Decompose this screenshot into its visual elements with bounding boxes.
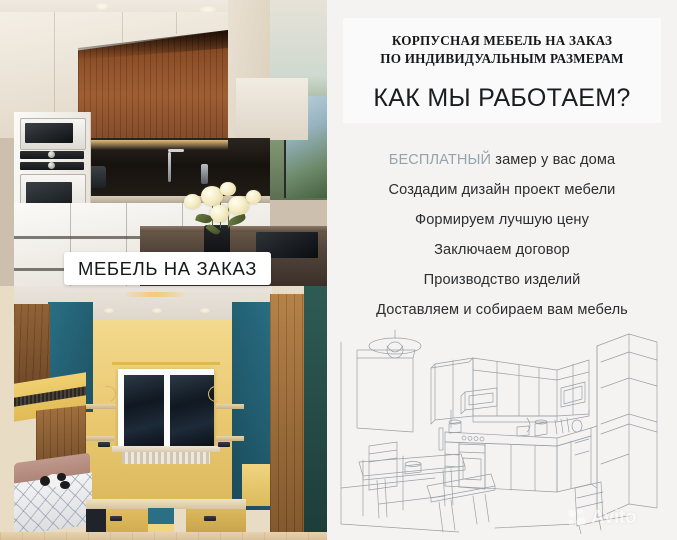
panda-paw xyxy=(60,481,70,489)
list-item: Создадим дизайн проект мебели xyxy=(327,175,677,205)
chrysanthemum-bloom xyxy=(210,205,229,222)
made-to-order-badge: МЕБЕЛЬ НА ЗАКАЗ xyxy=(64,252,271,285)
step-text: Формируем лучшую цену xyxy=(415,212,589,228)
avito-dots-icon xyxy=(566,507,588,529)
oven-knob-icon xyxy=(48,162,55,169)
kitchen-photo xyxy=(0,0,327,286)
list-item: Заключаем договор xyxy=(327,235,677,265)
free-highlight: БЕСПЛАТНЫЙ xyxy=(389,152,491,168)
radiator xyxy=(122,452,210,464)
textured-wall xyxy=(304,286,327,540)
wall-shelf xyxy=(216,436,244,441)
info-panel: КОРПУСНАЯ МЕБЕЛЬ НА ЗАКАЗ ПО ИНДИВИДУАЛЬ… xyxy=(327,0,677,540)
led-strip-light xyxy=(78,140,228,150)
subtitle-line-2: ПО ИНДИВИДУАЛЬНЫМ РАЗМЕРАМ xyxy=(327,50,677,68)
page-title: КАК МЫ РАБОТАЕМ? xyxy=(327,84,677,113)
badge-label: МЕБЕЛЬ НА ЗАКАЗ xyxy=(78,258,257,280)
power-socket-icon xyxy=(218,442,230,447)
curtain-rod xyxy=(112,362,220,365)
step-text: Создадим дизайн проект мебели xyxy=(389,182,616,198)
avito-watermark: Avito xyxy=(566,505,666,531)
step-text: замер у вас дома xyxy=(491,152,615,168)
panda-ear xyxy=(57,473,66,481)
step-text: Производство изделий xyxy=(424,272,581,288)
cabinet-seam xyxy=(176,12,177,34)
window-glass-left xyxy=(124,375,168,446)
window-mullion xyxy=(164,369,168,446)
range-hood xyxy=(236,78,308,140)
wall-shelf xyxy=(216,404,244,409)
ceiling-spotlight-icon xyxy=(104,308,114,313)
step-text: Заключаем договор xyxy=(434,242,570,258)
list-item: БЕСПЛАТНЫЙ замер у вас дома xyxy=(327,145,677,175)
ceiling-spotlight-icon xyxy=(96,3,108,10)
wall-shelf xyxy=(86,436,114,441)
drawer-unit-blue-top xyxy=(148,508,174,524)
power-socket-icon xyxy=(98,442,110,447)
photo-column: МЕБЕЛЬ НА ЗАКАЗ xyxy=(0,0,327,540)
chrysanthemum-bloom xyxy=(184,194,201,209)
kitchen-sketch-illustration xyxy=(339,328,665,534)
chrysanthemum-bloom xyxy=(246,190,261,204)
subtitle: КОРПУСНАЯ МЕБЕЛЬ НА ЗАКАЗ ПО ИНДИВИДУАЛЬ… xyxy=(327,32,677,68)
yellow-panel xyxy=(242,464,270,506)
avito-wordmark: Avito xyxy=(591,507,636,529)
wall-shelf xyxy=(86,404,116,409)
ceiling-spotlight-icon xyxy=(200,308,210,313)
kids-room-photo xyxy=(0,286,327,540)
step-text: Доставляем и собираем вам мебель xyxy=(376,302,628,318)
panda-head xyxy=(40,476,50,486)
wood-floor xyxy=(0,532,327,540)
list-item: Производство изделий xyxy=(327,265,677,295)
subtitle-line-1: КОРПУСНАЯ МЕБЕЛЬ НА ЗАКАЗ xyxy=(327,32,677,50)
chrysanthemum-bloom xyxy=(220,182,236,196)
cabinet-seam xyxy=(122,12,123,42)
ceiling-spotlight-icon xyxy=(152,308,162,313)
kitchen-faucet xyxy=(168,152,171,182)
power-socket-icon xyxy=(110,516,122,521)
ceiling-light-strip xyxy=(126,292,184,297)
list-item: Доставляем и собираем вам мебель xyxy=(327,295,677,325)
advertisement-banner: МЕБЕЛЬ НА ЗАКАЗ xyxy=(0,0,677,540)
power-socket-icon xyxy=(204,516,216,521)
oven-knob-icon xyxy=(48,151,55,158)
window-glass-right xyxy=(170,375,214,446)
panda-plush-toy xyxy=(38,472,72,492)
counter-jar xyxy=(201,164,208,184)
list-item: Формируем лучшую цену xyxy=(327,205,677,235)
built-in-microwave xyxy=(20,118,86,150)
wood-wardrobe-right xyxy=(270,294,308,534)
steps-list: БЕСПЛАТНЫЙ замер у вас дома Создадим диз… xyxy=(327,145,677,325)
